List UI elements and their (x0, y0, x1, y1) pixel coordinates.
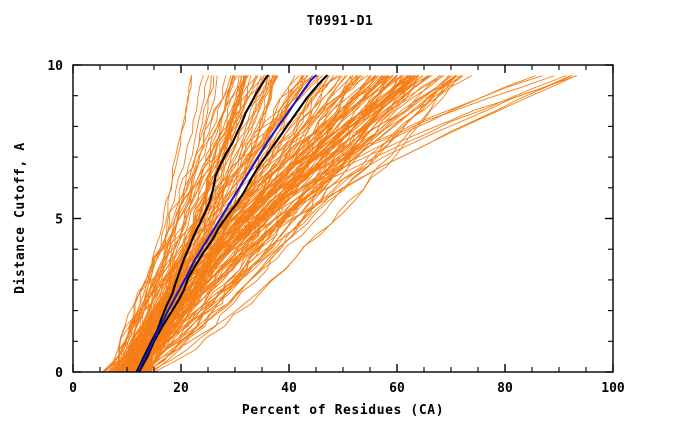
y-axis-title: Distance Cutoff, A (13, 142, 28, 294)
ensemble-curve (141, 76, 452, 372)
x-tick-label: 80 (497, 381, 513, 396)
ensemble-curves (102, 76, 576, 372)
x-tick-label: 0 (69, 381, 77, 396)
x-tick-label: 60 (389, 381, 405, 396)
x-tick-label: 20 (173, 381, 189, 396)
x-axis-title: Percent of Residues (CA) (242, 403, 444, 418)
plot-canvas: T0991-D1 0204060801000510 Percent of Res… (0, 0, 680, 440)
distance-cutoff-chart: 0204060801000510 Percent of Residues (CA… (0, 0, 680, 440)
x-tick-label: 100 (601, 381, 625, 396)
y-tick-label: 0 (55, 366, 63, 381)
y-tick-label: 5 (55, 213, 63, 228)
x-tick-label: 40 (281, 381, 297, 396)
y-tick-label: 10 (47, 59, 63, 74)
ensemble-curve (115, 76, 268, 372)
